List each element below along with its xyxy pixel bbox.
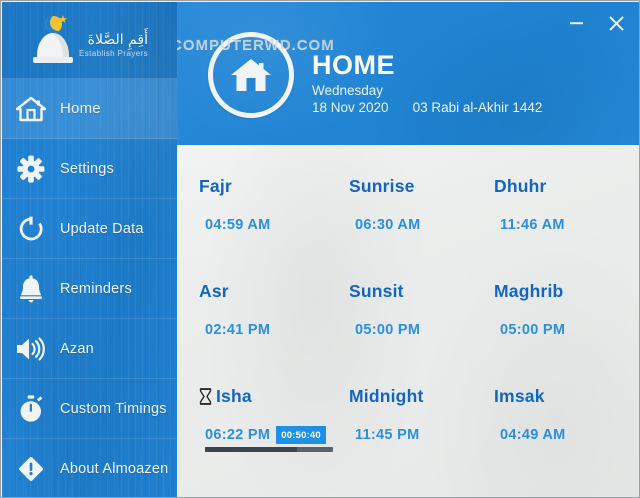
prayer-time: 04:49 AM [500,425,566,445]
prayer-time: 02:41 PM [205,320,270,340]
page-header: HOME Wednesday 18 Nov 2020 03 Rabi al-Ak… [177,2,639,145]
header-hijri-date: 03 Rabi al-Akhir 1442 [413,99,543,117]
star-icon: ★ [58,15,68,26]
prayer-time-row: 06:22 PM 00:50:40 [205,425,326,445]
mosque-icon: ★ [31,17,75,63]
page-title: HOME [312,50,542,80]
prayer-name-row: Isha [199,385,326,407]
prayer-cell-midnight[interactable]: Midnight 11:45 PM [349,385,424,445]
window-controls [563,12,629,34]
sidebar-item-label: Home [60,100,101,117]
prayer-name: Imsak [494,385,566,407]
sidebar-item-label: Azan [60,341,94,357]
prayer-time: 11:45 PM [355,425,424,445]
header-gregorian-date: 18 Nov 2020 [312,99,389,117]
almoazen-window: ★ أَقِمِ الصَّلاةَ Establish Prayers Hom… [0,0,640,498]
prayer-cell-imsak[interactable]: Imsak 04:49 AM [494,385,566,445]
stopwatch-icon [2,395,60,423]
close-button[interactable] [603,12,629,34]
main-content: HOME Wednesday 18 Nov 2020 03 Rabi al-Ak… [177,2,639,498]
home-icon [2,96,60,122]
prayer-name: Asr [199,280,270,302]
prayer-cell-sunrise[interactable]: Sunrise 06:30 AM [349,175,421,235]
countdown-progress-track [205,447,333,452]
refresh-icon [2,215,60,243]
prayer-name: Sunsit [349,280,420,302]
prayer-cell-maghrib[interactable]: Maghrib 05:00 PM [494,280,565,340]
prayer-name: Maghrib [494,280,565,302]
logo-english-text: Establish Prayers [79,49,148,59]
home-circle-icon [208,32,294,118]
prayer-cell-fajr[interactable]: Fajr 04:59 AM [199,175,271,235]
sidebar-item-update-data[interactable]: Update Data [2,199,177,259]
prayer-time: 11:46 AM [500,215,565,235]
logo-arabic-text: أَقِمِ الصَّلاةَ [88,33,148,48]
prayer-time: 06:22 PM [205,425,270,445]
app-logo: ★ أَقِمِ الصَّلاةَ Establish Prayers [2,2,177,79]
sidebar-item-azan[interactable]: Azan [2,319,177,379]
sidebar-item-home[interactable]: Home [2,79,177,139]
sidebar-item-label: Custom Timings [60,401,167,417]
sidebar-item-settings[interactable]: Settings [2,139,177,199]
speaker-icon [2,336,60,362]
prayer-row: Asr 02:41 PM Sunsit 05:00 PM Maghrib 05:… [177,280,639,385]
sidebar: ★ أَقِمِ الصَّلاةَ Establish Prayers Hom… [2,2,177,498]
prayer-row: Fajr 04:59 AM Sunrise 06:30 AM Dhuhr 11:… [177,175,639,280]
prayer-row: Isha 06:22 PM 00:50:40 Midnight 11:45 PM… [177,385,639,490]
countdown-badge: 00:50:40 [276,426,326,444]
prayer-times-grid: Fajr 04:59 AM Sunrise 06:30 AM Dhuhr 11:… [177,145,639,498]
sidebar-item-custom-timings[interactable]: Custom Timings [2,379,177,439]
prayer-cell-isha[interactable]: Isha 06:22 PM 00:50:40 [199,385,326,445]
prayer-time: 05:00 PM [355,320,420,340]
prayer-cell-sunsit[interactable]: Sunsit 05:00 PM [349,280,420,340]
prayer-name: Dhuhr [494,175,565,197]
sidebar-item-label: About Almoazen [60,461,168,477]
prayer-time: 05:00 PM [500,320,565,340]
prayer-name: Isha [216,385,252,407]
sidebar-item-reminders[interactable]: Reminders [2,259,177,319]
prayer-name: Fajr [199,175,271,197]
header-weekday: Wednesday [312,82,542,99]
info-diamond-icon [2,455,60,483]
gear-icon [2,155,60,183]
prayer-time: 04:59 AM [205,215,271,235]
countdown-progress-fill [205,447,297,452]
header-content: HOME Wednesday 18 Nov 2020 03 Rabi al-Ak… [208,32,542,118]
sidebar-item-about-almoazen[interactable]: About Almoazen [2,439,177,498]
bell-icon [2,275,60,303]
prayer-time: 06:30 AM [355,215,421,235]
sidebar-item-label: Reminders [60,281,132,297]
prayer-cell-dhuhr[interactable]: Dhuhr 11:46 AM [494,175,565,235]
prayer-name: Sunrise [349,175,421,197]
prayer-name: Midnight [349,385,424,407]
prayer-cell-asr[interactable]: Asr 02:41 PM [199,280,270,340]
sidebar-item-label: Update Data [60,221,144,237]
minimize-button[interactable] [563,12,589,34]
sidebar-item-label: Settings [60,161,114,177]
hourglass-icon [199,388,212,405]
